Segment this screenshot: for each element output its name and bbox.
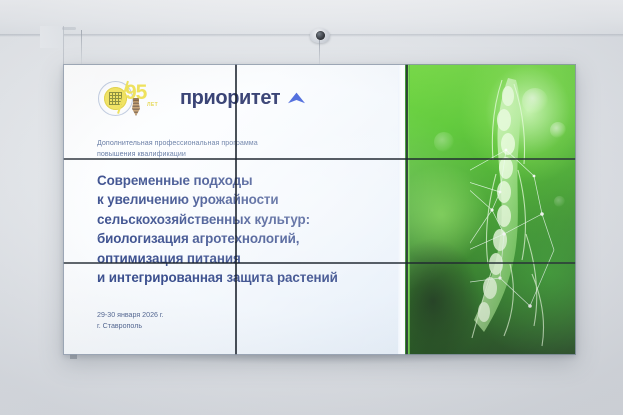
title-line-4: биологизация агротехнологий, bbox=[97, 229, 397, 248]
room-scene: 95 ЛЕТ приоритет Дополнительная професси… bbox=[0, 0, 623, 415]
event-date: 29-30 января 2026 г. bbox=[97, 310, 164, 321]
emblem-years-unit: ЛЕТ bbox=[147, 102, 158, 108]
wall-mount-bracket bbox=[70, 354, 77, 359]
slide-subtitle: Дополнительная профессиональная программ… bbox=[97, 138, 377, 159]
wordmark-text: приоритет bbox=[180, 88, 280, 108]
ceiling-marking bbox=[62, 27, 76, 30]
ceiling-camera-icon bbox=[310, 26, 330, 44]
title-line-5: оптимизация питания bbox=[97, 249, 397, 268]
video-wall[interactable]: 95 ЛЕТ приоритет Дополнительная професси… bbox=[63, 64, 576, 355]
event-place: г. Ставрополь bbox=[97, 321, 164, 332]
title-line-6: и интегрированная защита растений bbox=[97, 268, 397, 287]
slide-footer: 29-30 января 2026 г. г. Ставрополь bbox=[97, 310, 164, 331]
title-line-2: к увеличению урожайности bbox=[97, 190, 397, 209]
bezel-vertical-2 bbox=[406, 64, 408, 355]
videowall-shadow bbox=[68, 354, 576, 368]
bezel-horizontal-1 bbox=[63, 158, 576, 160]
brand-row: 95 ЛЕТ приоритет bbox=[97, 78, 306, 118]
bezel-horizontal-2 bbox=[63, 262, 576, 264]
priority-wordmark: приоритет bbox=[180, 88, 306, 108]
anniversary-emblem-icon: 95 ЛЕТ bbox=[97, 78, 167, 118]
title-line-1: Современные подходы bbox=[97, 171, 397, 190]
chevron-up-icon bbox=[287, 91, 306, 106]
video-wall-display-area: 95 ЛЕТ приоритет Дополнительная професси… bbox=[63, 64, 576, 355]
ceiling-cable bbox=[81, 30, 82, 64]
slide-text-column: 95 ЛЕТ приоритет Дополнительная професси… bbox=[63, 64, 404, 355]
slide-image-column bbox=[404, 64, 576, 355]
title-line-3: сельскохозяйственных культур: bbox=[97, 210, 397, 229]
slide-column-divider bbox=[398, 64, 405, 355]
ceiling-soffit-edge bbox=[63, 26, 64, 64]
emblem-years-number: 95 bbox=[125, 82, 146, 103]
slide-title: Современные подходы к увеличению урожайн… bbox=[97, 171, 397, 287]
subtitle-line-1: Дополнительная профессиональная программ… bbox=[97, 138, 377, 149]
camera-lens bbox=[316, 31, 325, 40]
presentation-slide: 95 ЛЕТ приоритет Дополнительная професси… bbox=[63, 64, 576, 355]
camera-cable bbox=[319, 40, 320, 64]
ceiling-soffit bbox=[40, 26, 64, 48]
bezel-vertical-1 bbox=[235, 64, 237, 355]
photo-tone-overlay bbox=[404, 64, 576, 355]
